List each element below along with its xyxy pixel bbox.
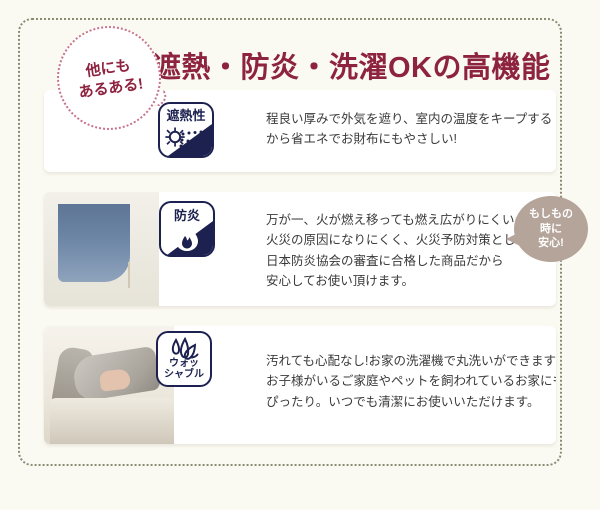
reassurance-bubble-line-1: もしもの (529, 207, 573, 222)
washable-badge-label-line-1: ウォッ (158, 359, 210, 370)
flame-retardant-badge: 防炎 (159, 201, 215, 257)
description-line: 万が一、火が燃え移っても燃え広がりにくいので、 (266, 210, 556, 230)
flame-retardant-badge-label: 防炎 (161, 209, 213, 223)
description-line: 汚れても心配なし!お家の洗濯機で丸洗いができます! (266, 351, 556, 371)
description-line: お子様がいるご家庭やペットを飼われているお家にも (266, 371, 556, 391)
washable-badge-label: ウォッ シャブル (158, 359, 210, 380)
heat-shield-description: 程良い厚みで外気を遮り、室内の温度をキープする から省エネでお財布にもやさしい! (266, 109, 552, 150)
reassurance-bubble-text: もしもの 時に 安心! (529, 207, 573, 252)
header: 他にも あるある! 遮熱・防炎・洗濯OKの高機能 (0, 18, 600, 90)
reassurance-bubble-line-2: 時に (529, 222, 573, 237)
washable-badge: ウォッ シャブル (156, 331, 212, 387)
heat-shield-badge-label: 遮熱性 (160, 109, 212, 123)
sofa-cushion-photo-image (44, 326, 174, 444)
description-line: 安心してお使い頂けます。 (266, 271, 556, 291)
description-line: 程良い厚みで外気を遮り、室内の温度をキープする (266, 109, 552, 129)
sofa-cushion-photo (44, 326, 174, 444)
description-line: 日本防炎協会の審査に合格した商品だから (266, 251, 556, 271)
attention-bubble: 他にも あるある! (57, 26, 161, 130)
page-title: 遮熱・防炎・洗濯OKの高機能 (152, 44, 551, 86)
feature-card-washable: ウォッ シャブル 汚れても心配なし!お家の洗濯機で丸洗いができます! お子様がい… (44, 326, 556, 444)
reassurance-bubble-tail (506, 232, 520, 246)
washable-badge-label-line-2: シャブル (158, 370, 210, 381)
heat-shield-badge: 遮熱性 (158, 102, 214, 158)
curtain-photo (44, 192, 159, 306)
feature-card-flame-retardant: 防炎 万が一、火が燃え移っても燃え広がりにくいので、 火災の原因になりにくく、火… (44, 192, 556, 306)
attention-bubble-tail (148, 90, 170, 106)
description-line: から省エネでお財布にもやさしい! (266, 129, 552, 149)
washable-description: 汚れても心配なし!お家の洗濯機で丸洗いができます! お子様がいるご家庭やペットを… (266, 351, 556, 412)
reassurance-bubble: もしもの 時に 安心! (514, 196, 588, 262)
attention-bubble-text: 他にも あるある! (74, 54, 144, 102)
reassurance-bubble-line-3: 安心! (529, 236, 573, 251)
curtain-photo-image (44, 192, 159, 306)
description-line: ぴったり。いつでも清潔にお使いいただけます。 (266, 392, 556, 412)
flame-retardant-description: 万が一、火が燃え移っても燃え広がりにくいので、 火災の原因になりにくく、火災予防… (266, 210, 556, 291)
photo-sofa-arm-shape (50, 398, 174, 444)
